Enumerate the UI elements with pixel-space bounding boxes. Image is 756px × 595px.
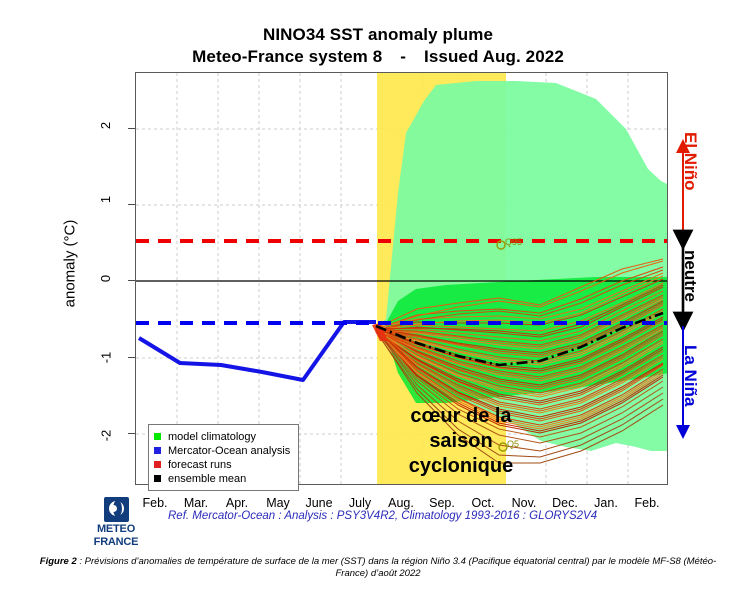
x-tick-aug: Aug. [378, 496, 424, 510]
y-tick-0: 0 [86, 271, 126, 286]
y-tick-neg1: -1 [86, 350, 126, 365]
legend-swatch-forecast [154, 461, 161, 468]
legend-label-ensemble: ensemble mean [168, 473, 246, 485]
figure-number: Figure 2 [40, 556, 77, 567]
legend-item-model-climatology: model climatology [154, 430, 290, 443]
y-tick-mark-neg1 [128, 357, 135, 358]
x-tick-jan: Jan. [583, 496, 629, 510]
y-tick-2: 2 [86, 118, 126, 133]
la-nina-label: La Niña [680, 345, 700, 406]
legend-item-ensemble-mean: ensemble mean [154, 472, 290, 485]
x-tick-sep: Sep. [419, 496, 465, 510]
legend-item-forecast-runs: forecast runs [154, 458, 290, 471]
reference-line: Ref. Mercator-Ocean : Analysis : PSY3V4R… [168, 510, 728, 522]
y-tick-mark-neg2 [128, 433, 135, 434]
meteo-france-logo-icon [104, 497, 129, 522]
chart-title-line1: NINO34 SST anomaly plume [0, 24, 756, 46]
chart-legend: model climatology Mercator-Ocean analysi… [148, 424, 299, 491]
neutre-label: neutre [680, 250, 700, 302]
y-tick-1: 1 [86, 192, 126, 207]
y-axis-label: anomaly (°C) [62, 174, 79, 354]
x-tick-may: May [255, 496, 301, 510]
y-tick-neg2: -2 [86, 428, 126, 443]
cyclone-line-1: cœur de la [366, 404, 556, 429]
meteo-france-logo: METEO FRANCE [90, 497, 142, 548]
legend-swatch-climatology [154, 433, 161, 440]
q95-label: Q95 [505, 237, 522, 247]
legend-label-climatology: model climatology [168, 431, 256, 443]
chart-title-line2: Meteo-France system 8-Issued Aug. 2022 [0, 46, 756, 68]
x-tick-dec: Dec. [542, 496, 588, 510]
chart-title-model: Meteo-France system 8 [192, 47, 382, 66]
logo-text-france: FRANCE [90, 537, 142, 548]
figure-caption-text: : Prévisions d’anomalies de température … [77, 556, 716, 579]
legend-label-analysis: Mercator-Ocean analysis [168, 445, 290, 457]
x-tick-nov: Nov. [501, 496, 547, 510]
el-nino-label: El Niño [680, 132, 700, 191]
y-tick-mark-0 [128, 280, 135, 281]
y-tick-mark-1 [128, 204, 135, 205]
chart-title-issued: Issued Aug. 2022 [424, 47, 564, 66]
x-tick-apr: Apr. [214, 496, 260, 510]
legend-item-analysis: Mercator-Ocean analysis [154, 444, 290, 457]
legend-swatch-analysis [154, 447, 161, 454]
cyclone-season-annotation: cœur de la saison cyclonique [366, 404, 556, 479]
x-tick-july: July [337, 496, 383, 510]
cyclone-line-3: cyclonique [366, 454, 556, 479]
cyclone-line-2: saison [366, 429, 556, 454]
figure-caption: Figure 2 : Prévisions d’anomalies de tem… [28, 556, 728, 580]
legend-label-forecast: forecast runs [168, 459, 232, 471]
x-tick-mar: Mar. [173, 496, 219, 510]
figure-root: NINO34 SST anomaly plume Meteo-France sy… [0, 0, 756, 595]
chart-title: NINO34 SST anomaly plume Meteo-France sy… [0, 24, 756, 68]
chart-title-dash: - [400, 47, 406, 66]
logo-text-meteo: METEO [90, 524, 142, 535]
y-tick-mark-2 [128, 128, 135, 129]
x-tick-feb-2: Feb. [624, 496, 670, 510]
legend-swatch-ensemble [154, 475, 161, 482]
x-tick-june: June [296, 496, 342, 510]
analysis-line [139, 322, 376, 380]
x-tick-oct: Oct. [460, 496, 506, 510]
